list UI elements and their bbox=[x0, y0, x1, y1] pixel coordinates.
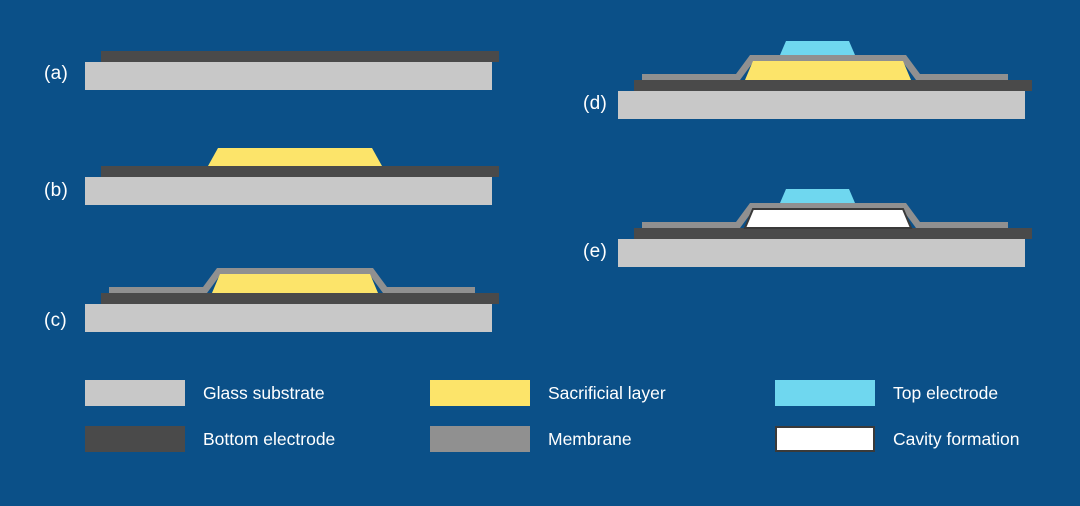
panel-d-label: (d) bbox=[583, 93, 607, 115]
legend-swatch-glass-substrate bbox=[85, 380, 185, 406]
panel-b-label: (b) bbox=[44, 180, 68, 202]
legend-label: Membrane bbox=[548, 425, 632, 453]
panel-a bbox=[85, 40, 505, 95]
bottom-electrode bbox=[101, 293, 499, 304]
glass-substrate bbox=[85, 177, 492, 205]
bottom-electrode bbox=[101, 166, 499, 177]
glass-substrate bbox=[85, 304, 492, 332]
sacrificial-layer bbox=[208, 148, 382, 166]
bottom-electrode bbox=[634, 228, 1032, 239]
panel-c-cross-section bbox=[85, 262, 505, 337]
bottom-electrode bbox=[634, 80, 1032, 91]
top-electrode bbox=[780, 189, 855, 203]
glass-substrate bbox=[618, 91, 1025, 119]
legend-label: Top electrode bbox=[893, 379, 998, 407]
legend-swatch-cavity-formation bbox=[775, 426, 875, 452]
legend-swatch-top-electrode bbox=[775, 380, 875, 406]
panel-c-label: (c) bbox=[44, 310, 67, 332]
panel-e bbox=[618, 186, 1038, 274]
legend-swatch-sacrificial-layer bbox=[430, 380, 530, 406]
panel-b-cross-section bbox=[85, 142, 505, 212]
legend-label: Bottom electrode bbox=[203, 425, 335, 453]
legend-label: Cavity formation bbox=[893, 425, 1019, 453]
top-electrode bbox=[780, 41, 855, 55]
panel-d bbox=[618, 36, 1038, 126]
glass-substrate bbox=[85, 62, 492, 90]
panel-e-cross-section bbox=[618, 186, 1038, 274]
bottom-electrode bbox=[101, 51, 499, 62]
panel-b bbox=[85, 142, 505, 212]
legend-swatch-membrane bbox=[430, 426, 530, 452]
legend-swatch-bottom-electrode bbox=[85, 426, 185, 452]
panel-a-cross-section bbox=[85, 40, 505, 95]
legend-label: Sacrificial layer bbox=[548, 379, 666, 407]
panel-a-label: (a) bbox=[44, 63, 68, 85]
legend: Glass substrateBottom electrodeSacrifici… bbox=[0, 380, 1080, 480]
sacrificial-layer bbox=[745, 61, 911, 80]
legend-label: Glass substrate bbox=[203, 379, 325, 407]
glass-substrate bbox=[618, 239, 1025, 267]
panel-c bbox=[85, 262, 505, 337]
panel-d-cross-section bbox=[618, 36, 1038, 126]
panel-e-label: (e) bbox=[583, 241, 607, 263]
sacrificial-layer bbox=[212, 274, 378, 293]
cavity-formation bbox=[745, 209, 911, 228]
